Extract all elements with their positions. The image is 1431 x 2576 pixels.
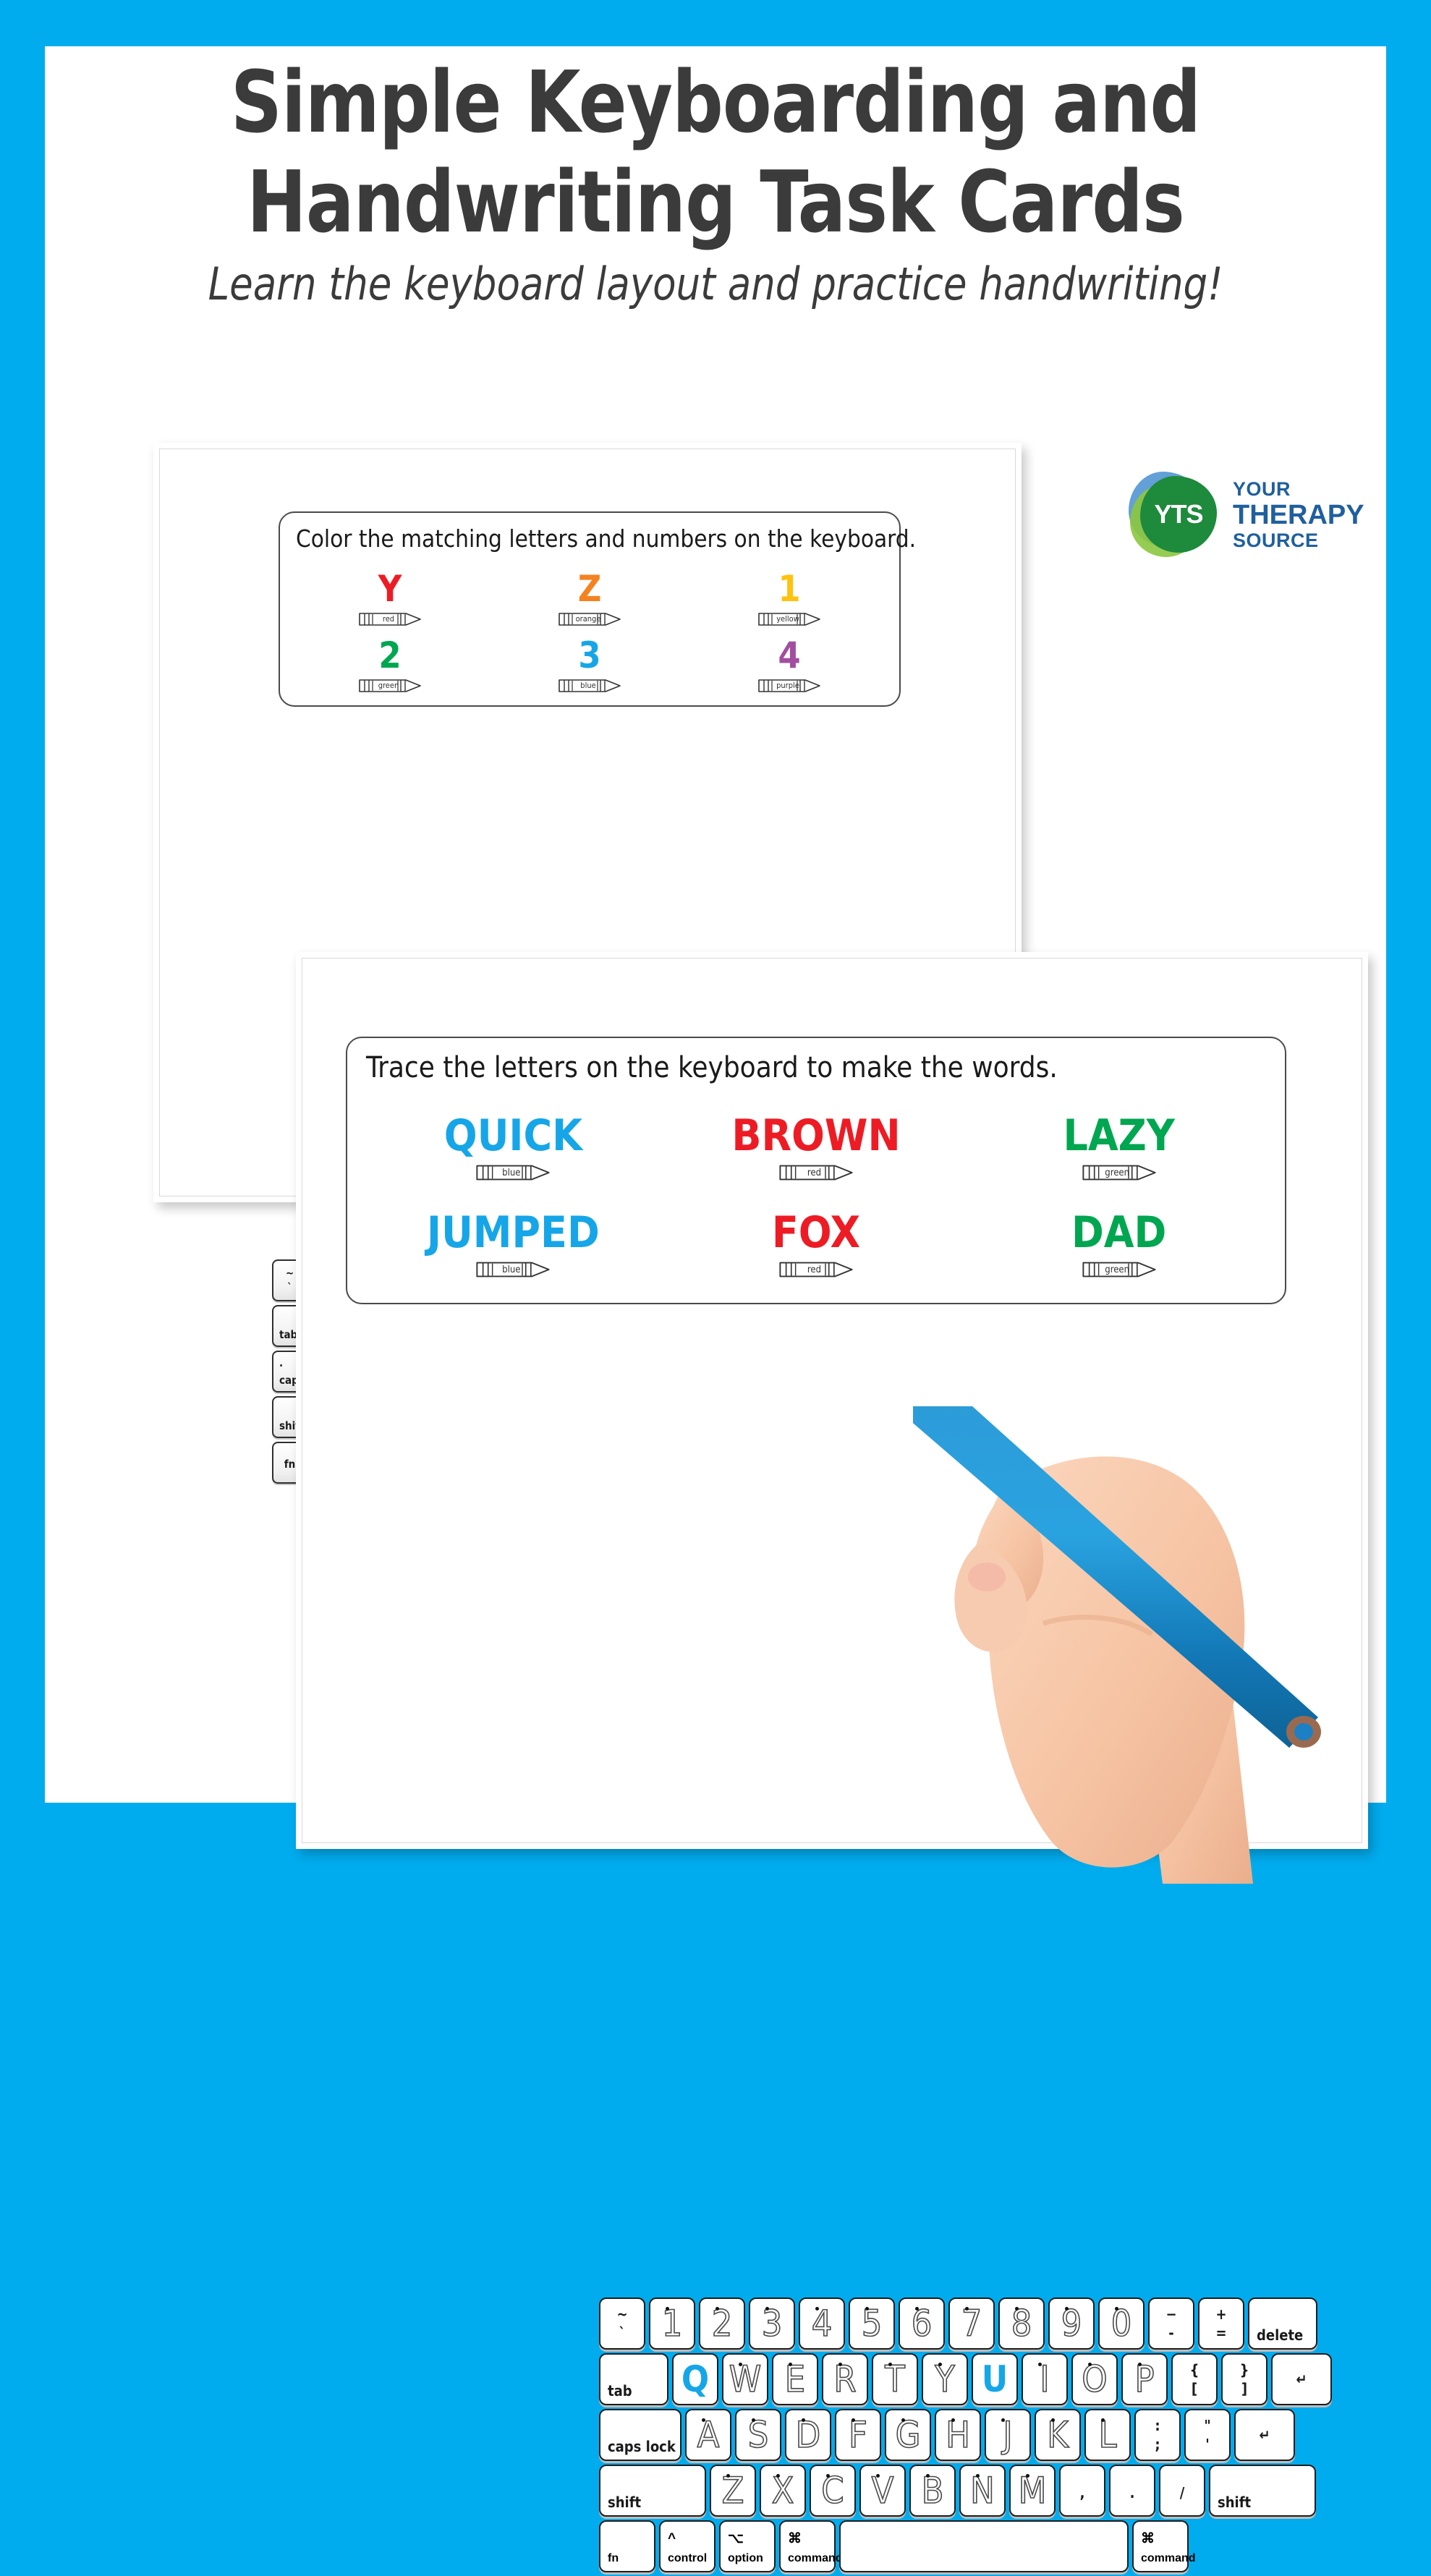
key-k[interactable]: K: [1035, 2409, 1081, 2461]
key-label: command: [1141, 2552, 1196, 2565]
key-label: command: [788, 2552, 843, 2565]
logo-line-source: SOURCE: [1233, 531, 1364, 551]
key-label: ': [1205, 2437, 1210, 2452]
key-f[interactable]: F: [835, 2409, 881, 2461]
color-item: Zorange: [490, 565, 689, 632]
crayon-icon: green: [358, 678, 422, 694]
key-label: tab: [608, 2384, 632, 2398]
traceable-glyph: T: [885, 2361, 904, 2397]
yts-logo-mark-icon: YTS: [1129, 469, 1221, 561]
key-label: .: [1130, 2486, 1135, 2500]
key-e[interactable]: E: [772, 2353, 818, 2405]
traceable-glyph: 2: [712, 2305, 733, 2342]
traceable-glyph: I: [1040, 2361, 1049, 2397]
yts-monogram: YTS: [1140, 476, 1217, 553]
crayon-icon: red: [776, 1260, 856, 1279]
word-item-text: BROWN: [731, 1113, 900, 1159]
traceable-glyph: H: [946, 2417, 970, 2453]
traceable-glyph: 0: [1111, 2305, 1132, 2342]
key-modifier-symbol: ^: [668, 2531, 676, 2547]
word-item: FOXred: [665, 1196, 968, 1293]
key-t[interactable]: T: [872, 2353, 918, 2405]
key-a[interactable]: A: [685, 2409, 731, 2461]
key-label: `: [619, 2326, 626, 2340]
word-item: BROWNred: [665, 1099, 968, 1196]
traceable-glyph: D: [796, 2417, 821, 2453]
yts-logo: YTS YOUR THERAPY SOURCE: [1129, 464, 1375, 566]
traceable-glyph: Y: [935, 2361, 954, 2397]
key-label: fn: [284, 1459, 295, 1470]
key-label: ]: [1241, 2381, 1247, 2396]
word-item-text: JUMPED: [427, 1210, 600, 1256]
crayon-icon: red: [776, 1163, 856, 1182]
color-item: 4purple: [689, 632, 889, 698]
crayon-icon: blue: [558, 678, 621, 694]
key-s[interactable]: S: [735, 2409, 781, 2461]
key-label: ↵: [1259, 2428, 1270, 2442]
key-8[interactable]: 8: [998, 2297, 1045, 2350]
keyboard-row: ~`1234567890−-+=delete: [599, 2297, 1431, 2350]
key-label: `: [287, 1283, 292, 1293]
key-↵[interactable]: ↵: [1234, 2409, 1295, 2461]
key-4[interactable]: 4: [799, 2297, 845, 2350]
key-z[interactable]: Z: [710, 2465, 756, 2517]
word-item-text: FOX: [772, 1210, 860, 1256]
crayon-label: blue: [491, 1260, 531, 1279]
key-blank[interactable]: ~`: [599, 2297, 645, 2350]
cover-page: Simple Keyboarding and Handwriting Task …: [45, 46, 1386, 1803]
key-top-label: +: [1215, 2307, 1226, 2321]
key-tab[interactable]: tab: [599, 2353, 668, 2405]
crayon-label: green: [1097, 1163, 1137, 1182]
key-label: tab: [279, 1330, 297, 1340]
key-h[interactable]: H: [935, 2409, 981, 2461]
key-v[interactable]: V: [859, 2465, 906, 2517]
key-label: shift: [608, 2495, 641, 2509]
task-card-2-inner: Trace the letters on the keyboard to mak…: [302, 958, 1362, 1843]
keyboard-row: caps lockASDFGHJKL:;"'↵: [599, 2409, 1431, 2461]
key-6[interactable]: 6: [899, 2297, 945, 2350]
crayon-icon: red: [358, 611, 422, 627]
key-top-label: −: [1165, 2307, 1176, 2321]
key-m[interactable]: M: [1009, 2465, 1056, 2517]
crayon-label: green: [1097, 1260, 1137, 1279]
key-shift[interactable]: shift: [1209, 2465, 1316, 2517]
traceable-glyph: 5: [862, 2305, 883, 2342]
key-space[interactable]: [839, 2520, 1129, 2572]
key-top-label: }: [1240, 2363, 1249, 2377]
key-1[interactable]: 1: [649, 2297, 695, 2350]
word-item-grid: QUICKblueBROWNredLAZYgreenJUMPEDblueFOXr…: [362, 1099, 1270, 1293]
key-control[interactable]: ^control: [659, 2520, 715, 2572]
keyboard-row: fn^control⌥option⌘command⌘command: [599, 2520, 1431, 2572]
traceable-glyph: Q: [681, 2361, 709, 2397]
page-subtitle: Learn the keyboard layout and practice h…: [78, 259, 1352, 310]
key-label: ,: [1080, 2486, 1085, 2500]
traceable-glyph: 6: [912, 2305, 933, 2342]
key-9[interactable]: 9: [1048, 2297, 1095, 2350]
color-item-glyph: Y: [378, 570, 402, 608]
key-option[interactable]: ⌥option: [719, 2520, 776, 2572]
traceable-glyph: A: [697, 2417, 720, 2453]
traceable-glyph: 1: [662, 2305, 683, 2342]
word-item: QUICKblue: [362, 1099, 665, 1196]
key-command[interactable]: ⌘command: [1132, 2520, 1189, 2572]
key-7[interactable]: 7: [948, 2297, 995, 2350]
key-3[interactable]: 3: [749, 2297, 795, 2350]
key-caps-lock[interactable]: caps lock: [599, 2409, 681, 2461]
crayon-label: yellow: [772, 611, 804, 627]
word-item-text: LAZY: [1063, 1113, 1174, 1159]
word-item-text: DAD: [1071, 1210, 1166, 1256]
color-item-glyph: 4: [778, 637, 800, 674]
crayon-icon: green: [1079, 1163, 1159, 1182]
key-x[interactable]: X: [760, 2465, 806, 2517]
traceable-glyph: G: [896, 2417, 921, 2453]
color-item: 1yellow: [689, 565, 889, 632]
crayon-label: blue: [491, 1163, 531, 1182]
key-blank[interactable]: +=: [1198, 2297, 1244, 2350]
color-item-glyph: Z: [578, 570, 602, 608]
color-item-glyph: 1: [778, 570, 800, 608]
traceable-glyph: W: [729, 2361, 761, 2397]
traceable-glyph: M: [1019, 2473, 1047, 2509]
crayon-label: purple: [772, 678, 804, 694]
traceable-glyph: X: [772, 2473, 794, 2509]
key-label: fn: [608, 2552, 619, 2565]
crayon-icon: purple: [757, 678, 821, 694]
instruction-text-2: Trace the letters on the keyboard to mak…: [366, 1051, 1058, 1084]
key-blank[interactable]: −-: [1148, 2297, 1194, 2350]
traceable-glyph: 9: [1061, 2305, 1082, 2342]
key-b[interactable]: B: [909, 2465, 956, 2517]
key-c[interactable]: C: [810, 2465, 856, 2517]
key-modifier-symbol: ⌥: [728, 2530, 744, 2547]
key-label: -: [1168, 2326, 1173, 2340]
key-5[interactable]: 5: [849, 2297, 895, 2350]
traceable-glyph: 4: [812, 2305, 833, 2342]
crayon-label: green: [373, 678, 404, 694]
key-blank[interactable]: {[: [1171, 2353, 1218, 2405]
traceable-glyph: F: [849, 2417, 867, 2453]
traceable-glyph: C: [821, 2473, 844, 2509]
key-top-label: ~: [286, 1268, 294, 1279]
traceable-glyph: B: [922, 2473, 944, 2509]
crayon-label: red: [794, 1260, 834, 1279]
logo-line-your: YOUR: [1233, 480, 1364, 499]
key-command[interactable]: ⌘command: [779, 2520, 836, 2572]
keyboard-trace-version[interactable]: ~`1234567890−-+=deletetabQWERTYUIOP{[}]↵…: [599, 2297, 1431, 2576]
instruction-box-2: Trace the letters on the keyboard to mak…: [346, 1037, 1286, 1304]
traceable-glyph: R: [833, 2361, 856, 2397]
traceable-glyph: 3: [762, 2305, 783, 2342]
yts-logo-text: YOUR THERAPY SOURCE: [1233, 480, 1364, 551]
color-item-grid: YredZorange1yellow2green3blue4purple: [290, 565, 889, 698]
instruction-text-1: Color the matching letters and numbers o…: [296, 524, 916, 553]
traceable-glyph: 7: [961, 2305, 982, 2342]
page-title-line-2: Handwriting Task Cards: [92, 162, 1339, 242]
key-l[interactable]: L: [1084, 2409, 1131, 2461]
traceable-glyph: U: [982, 2361, 1009, 2397]
key-top-label: ~: [616, 2307, 627, 2321]
crayon-label: red: [794, 1163, 834, 1182]
traceable-glyph: Z: [722, 2473, 744, 2509]
crayon-icon: yellow: [757, 611, 821, 627]
key-g[interactable]: G: [885, 2409, 931, 2461]
key-label: control: [668, 2552, 707, 2565]
key-top-label: :: [1155, 2418, 1160, 2433]
key-label: =: [1215, 2326, 1226, 2340]
key-2[interactable]: 2: [699, 2297, 745, 2350]
word-item-text: QUICK: [444, 1113, 582, 1159]
key-label: ;: [1155, 2437, 1160, 2452]
key-u[interactable]: U: [972, 2353, 1018, 2405]
key-label: delete: [1257, 2328, 1303, 2342]
key-label: ↵: [1296, 2372, 1307, 2386]
key-o[interactable]: O: [1071, 2353, 1118, 2405]
traceable-glyph: O: [1082, 2361, 1107, 2397]
key-p[interactable]: P: [1121, 2353, 1168, 2405]
cover-header: Simple Keyboarding and Handwriting Task …: [45, 46, 1386, 310]
traceable-glyph: N: [970, 2473, 995, 2509]
key-y[interactable]: Y: [922, 2353, 968, 2405]
key-label: option: [728, 2552, 763, 2565]
page-title-line-1: Simple Keyboarding and: [92, 62, 1339, 142]
key-label: shift: [1218, 2495, 1251, 2509]
key-modifier-symbol: ⌘: [788, 2530, 802, 2547]
key-r[interactable]: R: [822, 2353, 868, 2405]
crayon-icon: orange: [558, 611, 621, 627]
key-i[interactable]: I: [1022, 2353, 1068, 2405]
task-card-tracing[interactable]: Trace the letters on the keyboard to mak…: [296, 952, 1368, 1849]
key-delete[interactable]: delete: [1248, 2297, 1317, 2350]
word-item: JUMPEDblue: [362, 1196, 665, 1293]
key-top-label: ·: [279, 1361, 283, 1372]
key-q[interactable]: Q: [672, 2353, 718, 2405]
key-blank[interactable]: ,: [1059, 2465, 1105, 2517]
color-item: 2green: [290, 632, 490, 698]
key-blank[interactable]: "': [1184, 2409, 1231, 2461]
instruction-box-1: Color the matching letters and numbers o…: [279, 511, 901, 707]
traceable-glyph: L: [1098, 2417, 1116, 2453]
key-modifier-symbol: ⌘: [1141, 2530, 1155, 2547]
color-item-glyph: 3: [578, 637, 600, 674]
color-item-glyph: 2: [378, 637, 401, 674]
key-label: caps lock: [608, 2439, 676, 2454]
crayon-label: orange: [572, 611, 604, 627]
key-j[interactable]: J: [985, 2409, 1031, 2461]
logo-line-therapy: THERAPY: [1233, 501, 1364, 529]
traceable-glyph: S: [748, 2417, 769, 2453]
traceable-glyph: V: [872, 2473, 894, 2509]
key-n[interactable]: N: [959, 2465, 1006, 2517]
key-fn[interactable]: fn: [599, 2520, 655, 2572]
key-w[interactable]: W: [722, 2353, 768, 2405]
crayon-label: blue: [572, 678, 604, 694]
key-top-label: ": [1204, 2418, 1210, 2433]
key-blank[interactable]: .: [1109, 2465, 1155, 2517]
crayon-icon: blue: [473, 1163, 553, 1182]
key-0[interactable]: 0: [1098, 2297, 1145, 2350]
key-blank[interactable]: /: [1159, 2465, 1205, 2517]
word-item: LAZYgreen: [967, 1099, 1270, 1196]
word-item: DADgreen: [967, 1196, 1270, 1293]
keyboard-row: tabQWERTYUIOP{[}]↵: [599, 2353, 1431, 2405]
crayon-label: red: [373, 611, 404, 627]
color-item: Yred: [290, 565, 490, 632]
traceable-glyph: K: [1047, 2417, 1069, 2453]
traceable-glyph: 8: [1011, 2305, 1032, 2342]
key-label: [: [1192, 2381, 1197, 2396]
key-label: /: [1180, 2486, 1185, 2500]
key-blank[interactable]: }]: [1221, 2353, 1267, 2405]
traceable-glyph: J: [1003, 2417, 1012, 2453]
key-blank[interactable]: :;: [1134, 2409, 1181, 2461]
crayon-icon: blue: [473, 1260, 553, 1279]
traceable-glyph: E: [785, 2361, 805, 2397]
key-shift[interactable]: shift: [599, 2465, 706, 2517]
keyboard-row: shiftZXCVBNM,./shift: [599, 2465, 1431, 2517]
key-top-label: {: [1190, 2363, 1199, 2377]
key-↵[interactable]: ↵: [1271, 2353, 1332, 2405]
color-item: 3blue: [490, 632, 689, 698]
key-d[interactable]: D: [785, 2409, 831, 2461]
crayon-icon: green: [1079, 1260, 1159, 1279]
traceable-glyph: P: [1134, 2361, 1154, 2397]
